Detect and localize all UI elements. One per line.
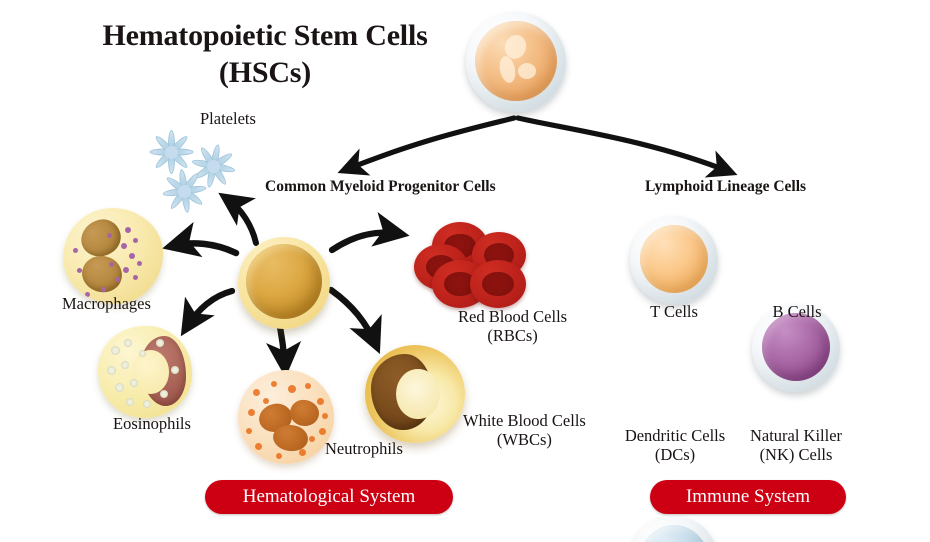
label-rbc: Red Blood Cells (RBCs) [458, 308, 567, 346]
page-title-line1: Hematopoietic Stem Cells [60, 18, 470, 55]
label-platelets: Platelets [200, 110, 256, 129]
page-title-line2: (HSCs) [60, 55, 470, 92]
label-rbc-sub: (RBCs) [458, 327, 567, 346]
lymphoid-branch-label: Lymphoid Lineage Cells [645, 178, 806, 196]
label-neutrophils: Neutrophils [325, 440, 403, 459]
hsc-differentiation-diagram: Hematopoietic Stem Cells (HSCs) [0, 0, 930, 542]
label-wbc-sub: (WBCs) [463, 431, 586, 450]
dendritic-cell-core [640, 525, 709, 542]
platelets-group [140, 125, 250, 220]
immune-system-badge[interactable]: Immune System [650, 480, 846, 514]
label-eosinophils: Eosinophils [113, 415, 191, 434]
label-dc-main: Dendritic Cells [620, 427, 730, 446]
label-dendritic-cells: Dendritic Cells (DCs) [620, 427, 730, 465]
dendritic-cell [630, 516, 718, 542]
label-b-cells: B Cells [768, 303, 826, 322]
branching-arrow-icon [345, 118, 730, 172]
hsc-cell-core [475, 21, 557, 101]
macrophage-cell [63, 208, 163, 304]
white-blood-cell [365, 345, 465, 443]
curved-arrow-icon-wbc [331, 290, 376, 345]
myeloid-progenitor-cell [238, 237, 330, 329]
rbc-5 [470, 260, 526, 308]
label-dc-sub: (DCs) [620, 446, 730, 465]
label-rbc-main: Red Blood Cells [458, 308, 567, 327]
neutrophil-cell [238, 370, 334, 464]
label-natural-killer-cells: Natural Killer (NK) Cells [740, 427, 852, 465]
curved-arrow-icon-rbc [332, 233, 400, 250]
label-t-cells: T Cells [645, 303, 703, 322]
page-title: Hematopoietic Stem Cells (HSCs) [60, 18, 470, 91]
curved-arrow-icon-macrophages [172, 243, 236, 253]
curved-arrow-icon-eosinophils [186, 291, 232, 328]
t-cell [630, 216, 718, 304]
label-nk-sub: (NK) Cells [740, 446, 852, 465]
hsc-cell [466, 12, 566, 112]
myeloid-branch-label: Common Myeloid Progenitor Cells [265, 178, 496, 196]
label-macrophages: Macrophages [62, 295, 151, 314]
wbc-nucleus-notch [396, 369, 440, 420]
platelet-3 [160, 167, 208, 215]
eosinophil-cell [98, 326, 192, 418]
label-wbc: White Blood Cells (WBCs) [463, 412, 586, 450]
macrophage-nucleus-lobe-1 [76, 214, 125, 261]
label-wbc-main: White Blood Cells [463, 412, 586, 431]
hematological-system-badge[interactable]: Hematological System [205, 480, 453, 514]
t-cell-core [640, 225, 709, 294]
red-blood-cells-group [410, 222, 530, 314]
myeloid-progenitor-core [246, 244, 322, 319]
b-cell-core [762, 313, 831, 382]
neutrophil-nucleus-lobe-3 [272, 423, 308, 452]
label-nk-main: Natural Killer [740, 427, 852, 446]
